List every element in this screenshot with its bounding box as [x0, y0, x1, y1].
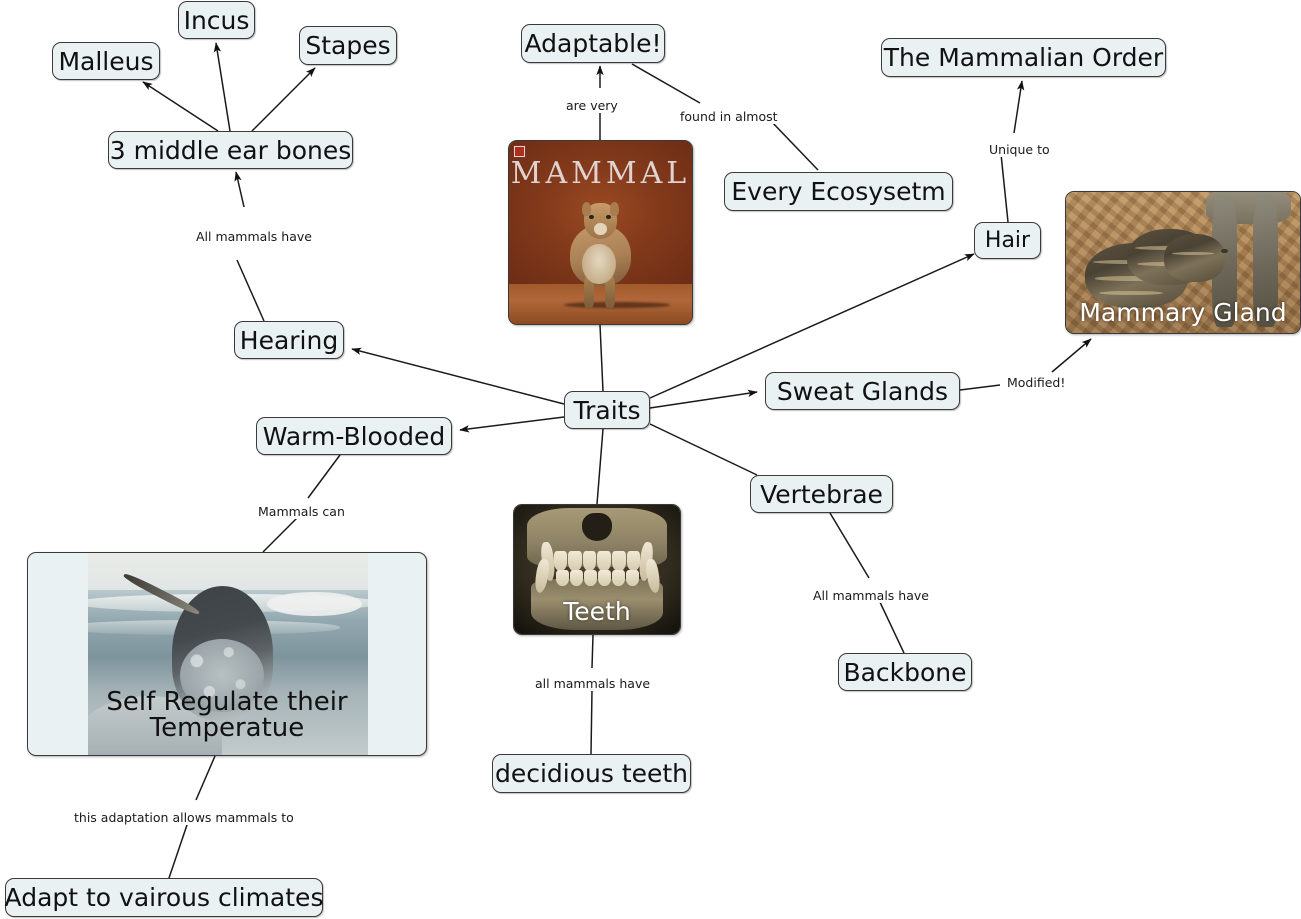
node-adapt-to-various-climates[interactable]: Adapt to vairous climates: [5, 878, 323, 917]
node-label: 3 middle ear bones: [110, 138, 352, 163]
node-label: Sweat Glands: [777, 379, 948, 404]
image-node-self-regulate-temperature[interactable]: Self Regulate their Temperatue: [27, 552, 427, 756]
node-incus[interactable]: Incus: [178, 1, 255, 39]
cougar-illustration: [566, 201, 636, 307]
edge-hair-to-order-b: [1014, 81, 1022, 133]
node-label: Backbone: [843, 660, 966, 685]
lower-incisor-row: [556, 570, 639, 587]
node-vertebrae[interactable]: Vertebrae: [750, 475, 893, 513]
node-label: Warm-Blooded: [263, 424, 446, 449]
edge-label-all-mammals-have-ear: All mammals have: [194, 229, 314, 244]
node-label: Stapes: [305, 33, 390, 58]
edge-ear-to-incus: [216, 43, 230, 131]
image-node-mammal-book-cover[interactable]: MAMMAL: [508, 140, 693, 325]
edge-label-modified: Modified!: [1005, 375, 1067, 390]
node-label: decidious teeth: [495, 761, 688, 786]
edge-label-this-adaptation-allows: this adaptation allows mammals to: [72, 810, 296, 825]
concept-map-canvas: Incus Malleus Stapes 3 middle ear bones …: [0, 0, 1301, 919]
image-caption: Self Regulate their Temperatue: [28, 689, 426, 741]
node-label: Hearing: [240, 328, 338, 353]
node-label: Hair: [985, 230, 1030, 252]
node-label: Adaptable!: [524, 31, 661, 56]
edge-ear-to-malleus: [143, 82, 218, 131]
node-backbone[interactable]: Backbone: [838, 653, 972, 691]
node-warm-blooded[interactable]: Warm-Blooded: [256, 417, 452, 455]
node-stapes[interactable]: Stapes: [299, 26, 397, 65]
edge-label-are-very: are very: [564, 98, 620, 113]
node-adaptable[interactable]: Adaptable!: [521, 24, 665, 63]
node-label: Adapt to vairous climates: [5, 885, 324, 910]
edge-traits-to-cover: [600, 325, 603, 391]
edge-label-found-in-almost: found in almost: [678, 109, 780, 124]
node-traits[interactable]: Traits: [564, 391, 650, 429]
upper-incisor-row: [554, 551, 640, 570]
edge-traits-to-sweat: [650, 392, 757, 408]
edge-traits-to-hearing: [352, 349, 564, 404]
edge-ear-to-stapes: [252, 68, 315, 131]
edge-sweat-to-mammary: [960, 385, 1000, 390]
node-label: Traits: [574, 398, 641, 423]
edge-hearing-to-ear-bones: [237, 260, 264, 321]
node-malleus[interactable]: Malleus: [52, 42, 160, 80]
node-every-ecosystem[interactable]: Every Ecosysetm: [724, 172, 953, 211]
edge-traits-to-vertebrae: [650, 424, 757, 475]
edge-vertebrae-to-backbone: [830, 513, 869, 578]
edge-vertebrae-to-backbone-b: [878, 598, 904, 653]
image-node-teeth[interactable]: Teeth: [513, 504, 681, 635]
node-label: The Mammalian Order: [884, 45, 1163, 70]
edge-teeth-to-decidious: [592, 635, 593, 668]
piglet-3: [1164, 234, 1225, 282]
edge-adaptable-to-ecosystem-b: [770, 120, 818, 170]
node-sweat-glands[interactable]: Sweat Glands: [765, 372, 960, 410]
edge-label-all-mammals-have-teeth: all mammals have: [533, 676, 652, 691]
image-node-mammary-gland[interactable]: Mammary Gland: [1065, 191, 1301, 334]
edge-hearing-to-ear-bones-b: [236, 172, 244, 207]
edge-sweat-to-mammary-b: [1052, 339, 1091, 372]
edge-teeth-to-decidious-b: [591, 690, 592, 754]
node-label: Incus: [184, 8, 250, 33]
nasal-cavity: [582, 513, 612, 541]
edge-label-unique-to: Unique to: [987, 142, 1052, 157]
edge-regulate-to-climates: [196, 756, 215, 800]
node-label: Every Ecosysetm: [731, 179, 945, 204]
edge-adaptable-to-ecosystem: [632, 64, 700, 103]
book-title-text: MAMMAL: [508, 156, 693, 191]
node-label: Vertebrae: [760, 482, 883, 507]
edge-warm-to-self-regulate-b: [263, 518, 297, 552]
edge-traits-to-teeth: [597, 429, 603, 504]
edge-regulate-to-climates-b: [169, 822, 188, 878]
edge-hair-to-order: [1001, 154, 1008, 222]
node-hair[interactable]: Hair: [974, 222, 1041, 259]
edge-label-mammals-can: Mammals can: [256, 504, 347, 519]
image-caption: Teeth: [514, 599, 680, 624]
edge-label-all-mammals-have-backbone: All mammals have: [811, 588, 931, 603]
node-decidious-teeth[interactable]: decidious teeth: [492, 754, 691, 793]
node-3-middle-ear-bones[interactable]: 3 middle ear bones: [108, 131, 353, 169]
node-hearing[interactable]: Hearing: [234, 321, 344, 359]
edge-warm-to-self-regulate: [308, 455, 340, 498]
node-the-mammalian-order[interactable]: The Mammalian Order: [881, 38, 1166, 77]
node-label: Malleus: [58, 49, 153, 74]
edge-traits-to-warm-blooded: [460, 417, 564, 430]
image-caption: Mammary Gland: [1066, 300, 1300, 325]
